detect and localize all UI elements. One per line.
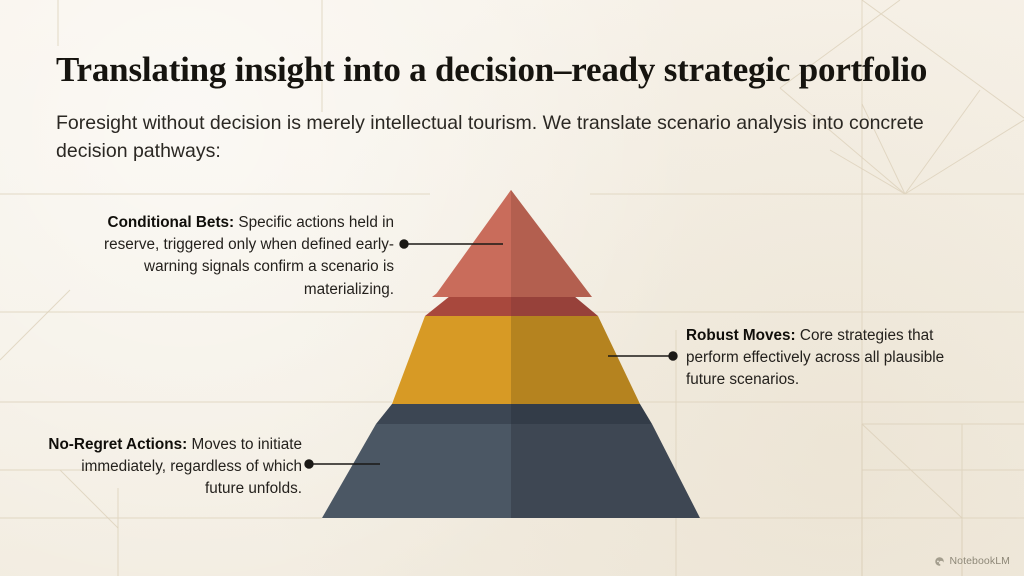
tier-plate-right: [511, 296, 598, 316]
tier-face-left: [322, 424, 511, 518]
tier-plate-left: [425, 296, 511, 316]
pyramid-diagram: [0, 0, 1024, 576]
notebooklm-logo-icon: [934, 556, 945, 567]
tier-plate-right: [511, 404, 652, 424]
leader-dot-conditional-bets: [400, 240, 408, 248]
leader-dot-no-regret-actions: [305, 460, 313, 468]
tier-face-right: [511, 424, 700, 518]
tier-face-left: [392, 316, 511, 404]
tier-plate-left: [376, 404, 511, 424]
tier-face-right: [511, 316, 640, 404]
pyramid-tier-robust-moves: [392, 316, 640, 404]
leader-dot-robust-moves: [669, 352, 677, 360]
pyramid-tier-no-regret-actions: [322, 404, 700, 518]
watermark-label: NotebookLM: [949, 555, 1010, 567]
pyramid-tier-conditional-bets: [425, 190, 598, 316]
watermark: NotebookLM: [934, 555, 1010, 567]
